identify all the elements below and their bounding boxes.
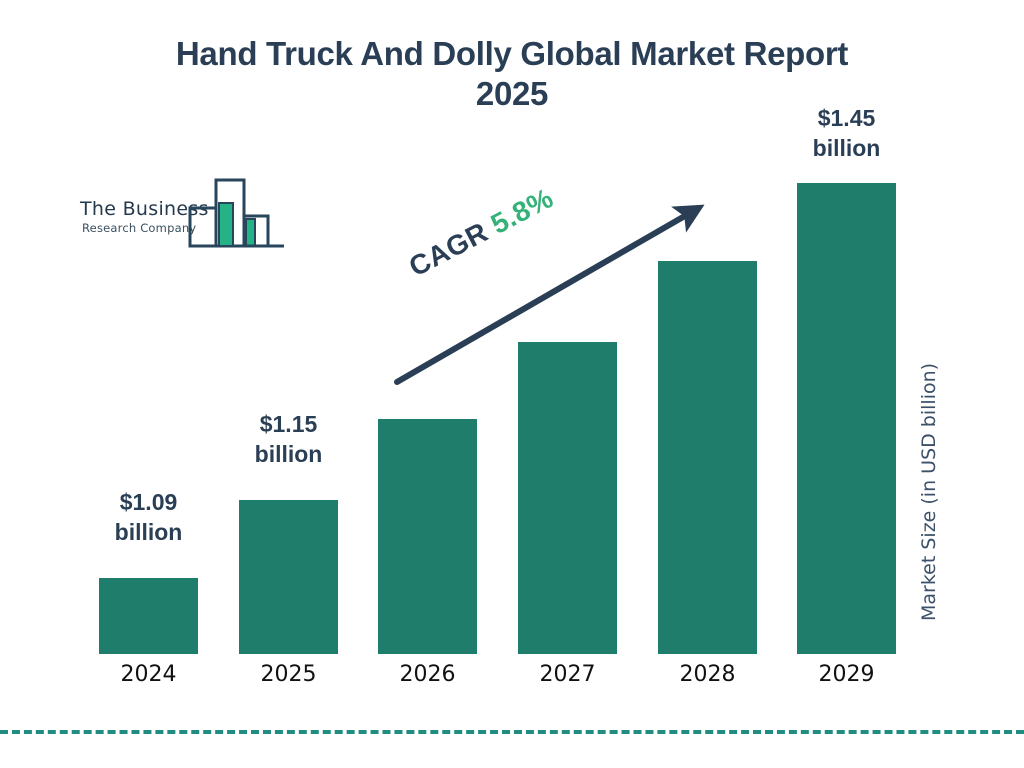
footer-divider bbox=[0, 730, 1024, 734]
bar-2029 bbox=[797, 183, 896, 654]
x-tick-label-2027: 2027 bbox=[518, 662, 617, 687]
bar-2027 bbox=[518, 342, 617, 654]
y-axis-title: Market Size (in USD billion) bbox=[918, 327, 946, 657]
bar-2028 bbox=[658, 261, 757, 654]
bar-2026 bbox=[378, 419, 477, 654]
bar-value-unit-2025: billion bbox=[239, 439, 338, 469]
x-tick-label-2029: 2029 bbox=[797, 662, 896, 687]
x-tick-label-2026: 2026 bbox=[378, 662, 477, 687]
x-tick-label-2024: 2024 bbox=[99, 662, 198, 687]
x-tick-label-2025: 2025 bbox=[239, 662, 338, 687]
x-tick-label-2028: 2028 bbox=[658, 662, 757, 687]
bar-value-unit-2029: billion bbox=[797, 133, 896, 163]
bar-2025 bbox=[239, 500, 338, 654]
bar-chart-plot-area: $1.09billion2024$1.15billion202520262027… bbox=[0, 0, 1024, 768]
bar-value-amount-2029: $1.45 bbox=[797, 103, 896, 133]
bar-value-label-2029: $1.45billion bbox=[797, 103, 896, 164]
bar-value-amount-2025: $1.15 bbox=[239, 409, 338, 439]
bar-value-amount-2024: $1.09 bbox=[99, 487, 198, 517]
bar-value-unit-2024: billion bbox=[99, 517, 198, 547]
bar-value-label-2024: $1.09billion bbox=[99, 487, 198, 548]
bar-2024 bbox=[99, 578, 198, 654]
bar-value-label-2025: $1.15billion bbox=[239, 409, 338, 470]
